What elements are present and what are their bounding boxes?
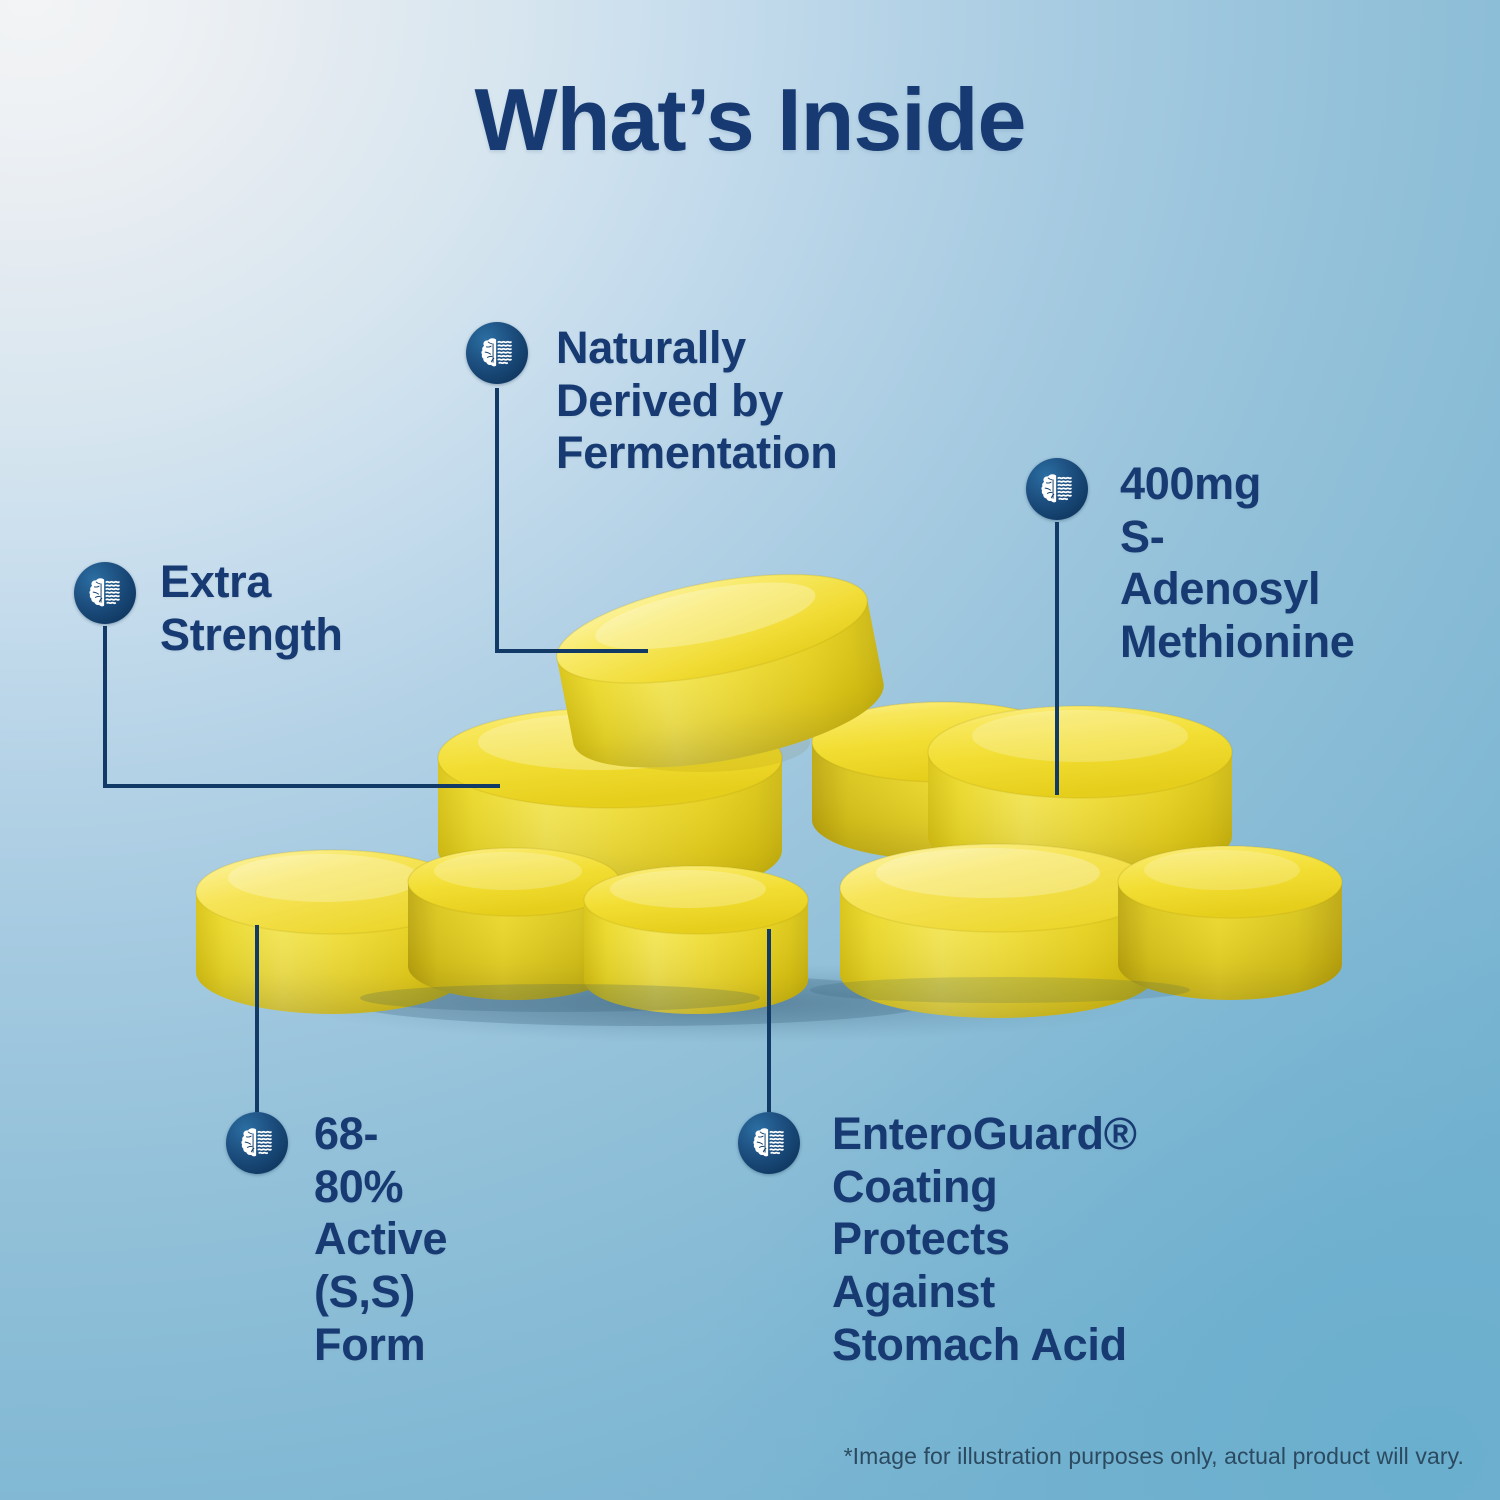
page-title: What’s Inside — [0, 74, 1500, 166]
callout-label-active-form: 68-80% Active (S,S) Form — [314, 1108, 447, 1371]
brain-icon — [466, 322, 528, 384]
callout-label-enteroguard: EnteroGuard® Coating Protects Against St… — [832, 1108, 1137, 1371]
brain-icon — [74, 562, 136, 624]
callout-label-extra-strength: Extra Strength — [160, 556, 343, 661]
brain-icon — [226, 1112, 288, 1174]
background-vignette — [0, 0, 1500, 1500]
disclaimer-footnote: *Image for illustration purposes only, a… — [844, 1443, 1464, 1470]
callout-label-naturally-derived: Naturally Derived by Fermentation — [556, 322, 837, 480]
brain-icon — [738, 1112, 800, 1174]
what-s-inside-infographic: What’s Inside — [0, 0, 1500, 1500]
callout-label-sam-e-dose: 400mg S-Adenosyl Methionine — [1120, 458, 1354, 669]
brain-icon — [1026, 458, 1088, 520]
